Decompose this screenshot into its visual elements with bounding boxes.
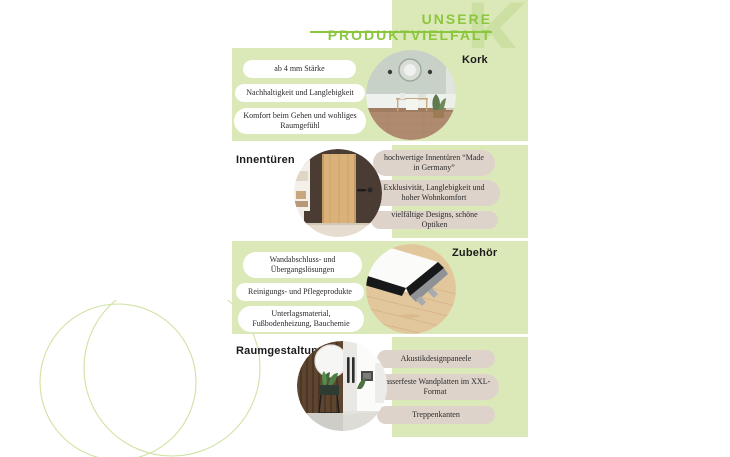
kork-pill-3: Komfort beim Gehen und wohliges Raumgefü… — [234, 108, 366, 134]
infographic-canvas: K UNSERE PRODUKTVIELFALT Kork ab 4 mm St… — [0, 0, 730, 457]
zubehoer-pill-3: Unterlagsmaterial, Fußbodenheizung, Bauc… — [238, 306, 364, 332]
page-title: UNSERE PRODUKTVIELFALT — [250, 12, 492, 44]
transition-profile-photo — [366, 244, 456, 334]
page-title-line1: UNSERE — [250, 12, 492, 27]
innentueren-pill-2: Exklusivität, Langlebigkeit und hoher Wo… — [368, 180, 500, 206]
cork-interior-photo — [366, 50, 456, 140]
innentueren-pill-1: hochwertige Innentüren “Made in Germany” — [373, 150, 495, 176]
kork-pill-2: Nachhaltigkeit und Langlebigkeit — [235, 84, 365, 102]
page-title-line2: PRODUKTVIELFALT — [250, 27, 492, 44]
zubehoer-pill-2: Reinigungs- und Pflegeprodukte — [236, 283, 364, 301]
kork-pill-1: ab 4 mm Stärke — [243, 60, 356, 78]
section-title-kork: Kork — [462, 54, 488, 66]
zubehoer-pill-1: Wandabschluss- und Übergangslösungen — [243, 252, 362, 278]
innentueren-pill-3: vielfältige Designs, schöne Optiken — [371, 211, 498, 229]
section-title-zubehoer: Zubehör — [452, 247, 497, 259]
raumgestaltung-pill-3: Treppenkanten — [377, 406, 495, 424]
interior-door-photo — [294, 149, 382, 237]
raumgestaltung-pill-2: wasserfeste Wandplatten im XXL-Format — [371, 374, 499, 400]
raumgestaltung-pill-1: Akustikdesignpaneele — [377, 350, 495, 368]
room-design-photo — [297, 341, 387, 431]
section-title-innentueren: Innentüren — [236, 154, 295, 166]
